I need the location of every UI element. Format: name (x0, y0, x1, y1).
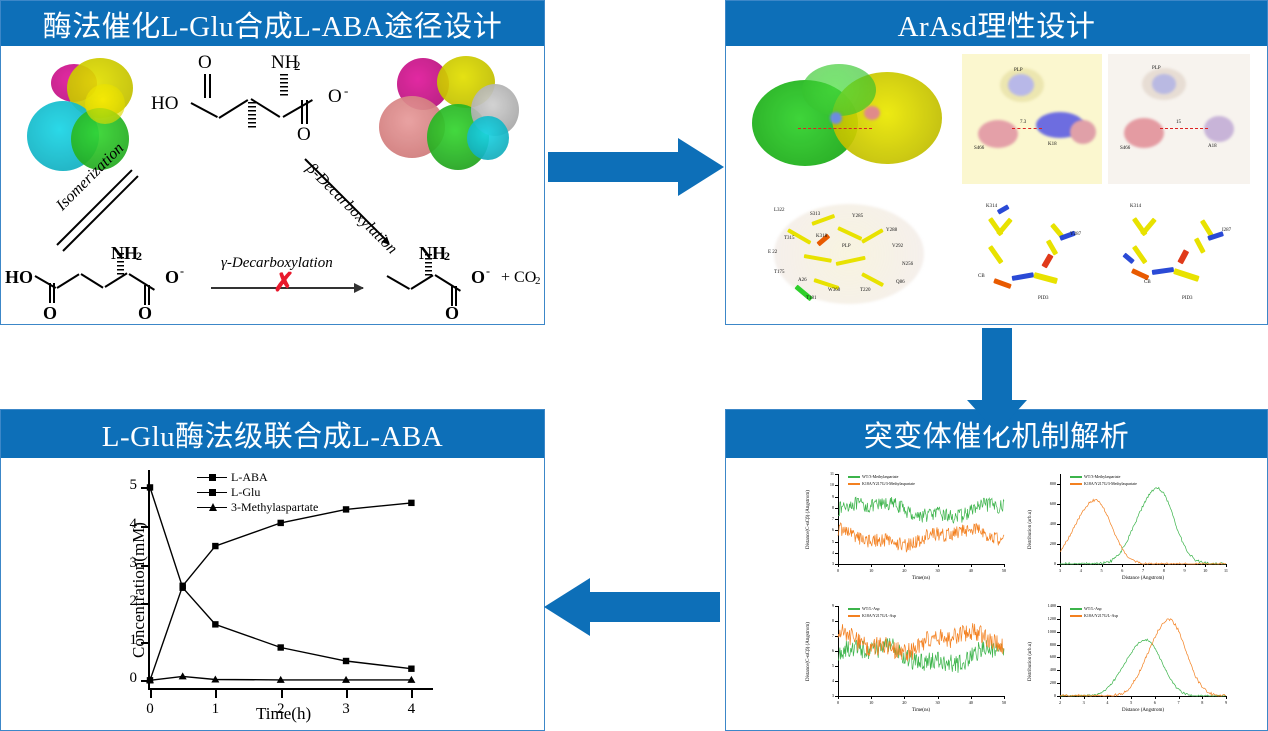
residue-label-cb: CB (1144, 280, 1151, 285)
md-series-line (1060, 488, 1226, 565)
series-marker (212, 543, 218, 549)
series-marker (408, 666, 414, 672)
structure-substrate-wt: K314 Y287 CB PID3 (964, 192, 1104, 316)
atom-label-O-minus-sup: - (180, 264, 184, 279)
residue-label-i287: I287 (1222, 228, 1231, 233)
atom-label-O-bottom-1: O (43, 303, 57, 324)
atom-label-NH2: NH (419, 243, 446, 264)
arrow-left-icon (590, 592, 720, 622)
molecule-l-glutamate: HO NH 2 O - O O (5, 241, 195, 324)
residue-label-cb: CB (978, 274, 985, 279)
residue-label-2: Y285 (852, 214, 863, 219)
md-plot-grid: 0102030405034567891011Time(ns)Distance(C… (726, 458, 1267, 730)
atom-label-NH2: NH (111, 243, 138, 264)
residue-label-8: N256 (902, 262, 913, 267)
series-marker (212, 621, 218, 627)
residue-label-5: K318 (816, 234, 827, 239)
md-plot-area (1026, 466, 1234, 588)
md-series-line (1060, 619, 1226, 696)
residue-label-plp: PLP (1014, 68, 1023, 73)
residue-label-0: L322 (774, 208, 785, 213)
atom-label-O2: O (297, 124, 311, 146)
md-plot-md-time-2: 010203040503456789Time(ns)Distance(C-αCβ… (804, 598, 1012, 720)
text-co2: + CO (501, 269, 536, 287)
residue-label-3: Y288 (886, 228, 897, 233)
atom-label-HO: HO (151, 93, 178, 115)
text-co2-sub: 2 (535, 275, 541, 287)
md-plot-md-dist-2: 234567890200400600800100012001400Distanc… (1026, 598, 1234, 720)
figure-canvas: 酶法催化L-Glu合成L-ABA途径设计 O (0, 0, 1268, 731)
series-marker (343, 506, 349, 512)
panel-body-cascade-synthesis: 012345 01234 Concentration(mM) Time(h) L… (1, 458, 544, 730)
panel-cascade-synthesis: L-Glu酶法级联合成L-ABA 012345 01234 Concentrat… (0, 409, 545, 731)
structure-active-site-wt: PLP S466 K18 7.3 (962, 54, 1102, 184)
structure-substrate-mutant: K314 I287 CB PID3 (1110, 192, 1250, 316)
md-plot-md-time-1: 0102030405034567891011Time(ns)Distance(C… (804, 466, 1012, 588)
residue-label-14: T220 (860, 288, 871, 293)
series-line (150, 503, 411, 680)
arrow-right-icon (548, 152, 678, 182)
md-series-line (838, 523, 1004, 552)
series-marker (147, 484, 153, 490)
panel-body-rational-design: PLP S466 K18 7.3 PLP S466 A18 15 (726, 46, 1267, 324)
residue-label-4: T315 (784, 236, 795, 241)
md-series-line (1060, 639, 1226, 696)
atom-label-NH2-sub: 2 (294, 58, 301, 74)
residue-label-13: W360 (828, 288, 840, 293)
kinetics-line-chart: 012345 01234 Concentration(mM) Time(h) L… (1, 458, 544, 730)
atom-label-NH2-sub: 2 (444, 249, 450, 264)
distance-label-wt: 7.3 (1020, 120, 1026, 125)
md-plot-area (804, 598, 1012, 720)
atom-label-O-minus: O (165, 267, 179, 288)
panel-body-pathway-design: O NH 2 HO O - O (1, 46, 544, 324)
panel-rational-design: ArAsd理性设计 PLP S466 K18 (725, 0, 1268, 325)
md-plot-area (804, 466, 1012, 588)
md-plot-area (1026, 598, 1234, 720)
panel-title-cascade-synthesis: L-Glu酶法级联合成L-ABA (1, 410, 544, 458)
molecule-l-aba: NH 2 O - O + CO 2 (383, 241, 544, 324)
structure-dimer-overview (744, 54, 954, 184)
series-marker (343, 658, 349, 664)
structure-binding-pocket: L322 S313 Y285 Y288 T315 K318 PLP V292 N… (754, 192, 944, 316)
arrow-down-icon (982, 328, 1012, 400)
atom-label-HO: HO (5, 267, 33, 288)
reaction-arrow-block: γ-Decarboxylation ✗ (211, 255, 371, 311)
residue-label-15: Q86 (896, 280, 905, 285)
residue-label-10: T175 (774, 270, 785, 275)
residue-label-pid3: PID3 (1038, 296, 1049, 301)
atom-label-NH2-sub: 2 (136, 249, 142, 264)
panel-body-mechanism-analysis: 0102030405034567891011Time(ns)Distance(C… (726, 458, 1267, 730)
residue-label-11: T181 (806, 296, 817, 301)
residue-label-y287: Y287 (1070, 232, 1081, 237)
residue-label-9: E 22 (768, 250, 777, 255)
residue-label-k314: K314 (1130, 204, 1141, 209)
residue-label-6: PLP (842, 244, 851, 249)
series-marker (277, 520, 283, 526)
distance-label-mutant: 15 (1176, 120, 1181, 125)
atom-label-O-minus: O (471, 267, 485, 288)
atom-label-O-minus-sup: - (344, 83, 348, 99)
panel-title-pathway-design: 酶法催化L-Glu合成L-ABA途径设计 (1, 1, 544, 46)
residue-label-12: A26 (798, 278, 807, 283)
panel-mechanism-analysis: 突变体催化机制解析 0102030405034567891011Time(ns)… (725, 409, 1268, 731)
series-plot-area (1, 458, 544, 730)
atom-label-O: O (445, 303, 459, 324)
residue-label-7: V292 (892, 244, 903, 249)
md-plot-md-dist-1: 345678910110200400600800Distance (Angstr… (1026, 466, 1234, 588)
residue-label-plp: PLP (1152, 66, 1161, 71)
residue-label-s466: S466 (1120, 146, 1130, 151)
residue-label-k18: K18 (1048, 142, 1057, 147)
md-series-line (838, 497, 1004, 523)
panel-pathway-design: 酶法催化L-Glu合成L-ABA途径设计 O (0, 0, 545, 325)
series-marker (179, 585, 185, 591)
residue-label-s466: S466 (974, 146, 984, 151)
reaction-gamma-decarboxylation: HO NH 2 O - O O (1, 241, 544, 324)
series-marker (179, 672, 187, 679)
residue-label-1: S313 (810, 212, 820, 217)
panel-title-rational-design: ArAsd理性设计 (726, 1, 1267, 46)
atom-label-O-minus-sup: - (486, 264, 490, 279)
atom-label-O-bottom-2: O (138, 303, 152, 324)
series-marker (408, 500, 414, 506)
structure-active-site-mutant: PLP S466 A18 15 (1108, 54, 1250, 184)
residue-label-a18: A18 (1208, 144, 1217, 149)
residue-label-pid3: PID3 (1182, 296, 1193, 301)
md-series-line (1060, 499, 1226, 564)
md-series-line (838, 638, 1004, 673)
series-marker (277, 644, 283, 650)
residue-label-k314: K314 (986, 204, 997, 209)
atom-label-O-minus: O (328, 86, 342, 108)
blocked-reaction-x: ✗ (273, 269, 295, 295)
atom-label-O: O (198, 52, 212, 74)
